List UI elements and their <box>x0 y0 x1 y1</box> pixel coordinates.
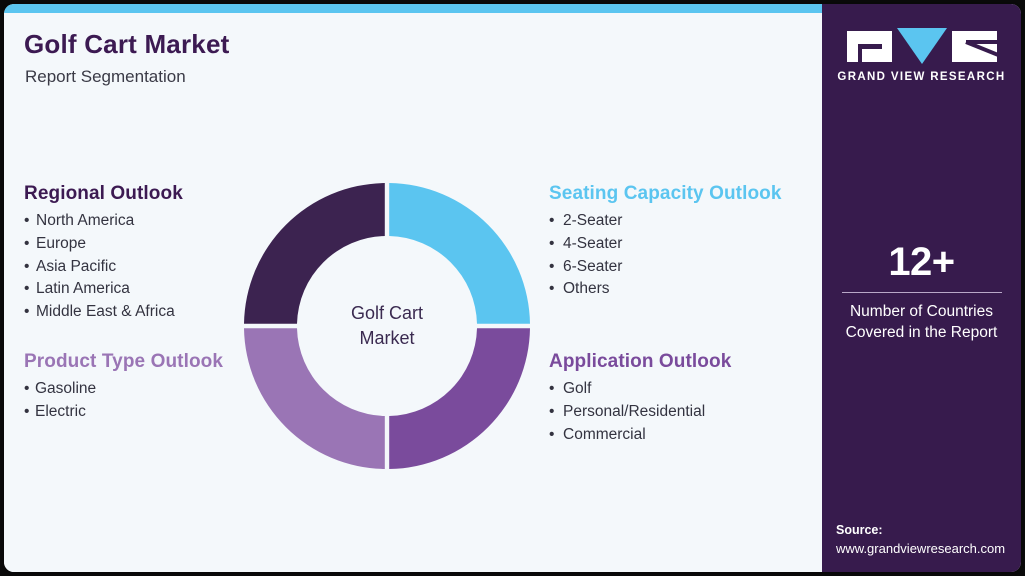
segment-heading-seating-capacity: Seating Capacity Outlook <box>549 183 782 205</box>
segment-list-regional: North America Europe Asia Pacific Latin … <box>24 210 183 324</box>
donut-chart-svg <box>242 181 532 471</box>
content-pane: Golf Cart Market Report Segmentation Reg… <box>4 13 822 572</box>
donut-slice-application <box>389 328 530 469</box>
top-accent-strip <box>4 4 822 13</box>
segment-block-product-type: Product Type Outlook Gasoline Electric <box>24 351 223 424</box>
list-item: Middle East & Africa <box>24 301 183 324</box>
sidebar-panel: GRAND VIEW RESEARCH 12+ Number of Countr… <box>822 4 1021 572</box>
source-label: Source: <box>836 521 1021 539</box>
logo-r-icon <box>952 31 997 62</box>
brand-logo: GRAND VIEW RESEARCH <box>822 28 1021 83</box>
list-item: 4-Seater <box>549 233 782 256</box>
list-item: Europe <box>24 233 183 256</box>
list-item: Others <box>549 278 782 301</box>
donut-chart: Golf Cart Market <box>242 181 532 471</box>
stat-caption-line-2: Covered in the Report <box>822 322 1021 343</box>
segment-list-application: Golf Personal/Residential Commercial <box>549 378 731 446</box>
countries-stat: 12+ Number of Countries Covered in the R… <box>822 240 1021 343</box>
page-title: Golf Cart Market <box>24 29 229 60</box>
segment-heading-product-type: Product Type Outlook <box>24 351 223 373</box>
list-item: Electric <box>24 401 223 424</box>
donut-slice-regional <box>244 183 385 324</box>
list-item: Gasoline <box>24 378 223 401</box>
infographic-root: Golf Cart Market Report Segmentation Reg… <box>0 0 1025 576</box>
stat-divider <box>842 292 1002 293</box>
donut-slice-seating-capacity <box>389 183 530 324</box>
logo-g-icon <box>847 31 892 62</box>
donut-slice-product-type <box>244 328 385 469</box>
page-subtitle: Report Segmentation <box>25 67 186 87</box>
source-block: Source: www.grandviewresearch.com <box>836 521 1021 558</box>
segment-list-seating-capacity: 2-Seater 4-Seater 6-Seater Others <box>549 210 782 301</box>
segment-block-application: Application Outlook Golf Personal/Reside… <box>549 351 731 446</box>
logo-marks <box>847 28 997 64</box>
list-item: 2-Seater <box>549 210 782 233</box>
infographic-card: Golf Cart Market Report Segmentation Reg… <box>4 4 1021 572</box>
list-item: North America <box>24 210 183 233</box>
list-item: Commercial <box>549 424 731 447</box>
logo-wordmark: GRAND VIEW RESEARCH <box>837 71 1005 83</box>
segment-heading-regional: Regional Outlook <box>24 183 183 205</box>
segment-list-product-type: Gasoline Electric <box>24 378 223 424</box>
list-item: Latin America <box>24 278 183 301</box>
logo-v-triangle-icon <box>897 28 947 64</box>
list-item: 6-Seater <box>549 256 782 279</box>
list-item: Golf <box>549 378 731 401</box>
segment-block-seating-capacity: Seating Capacity Outlook 2-Seater 4-Seat… <box>549 183 782 301</box>
stat-number: 12+ <box>822 240 1021 284</box>
list-item: Personal/Residential <box>549 401 731 424</box>
segment-block-regional: Regional Outlook North America Europe As… <box>24 183 183 324</box>
source-url[interactable]: www.grandviewresearch.com <box>836 539 1021 558</box>
stat-caption-line-1: Number of Countries <box>822 301 1021 322</box>
list-item: Asia Pacific <box>24 256 183 279</box>
segment-heading-application: Application Outlook <box>549 351 731 373</box>
